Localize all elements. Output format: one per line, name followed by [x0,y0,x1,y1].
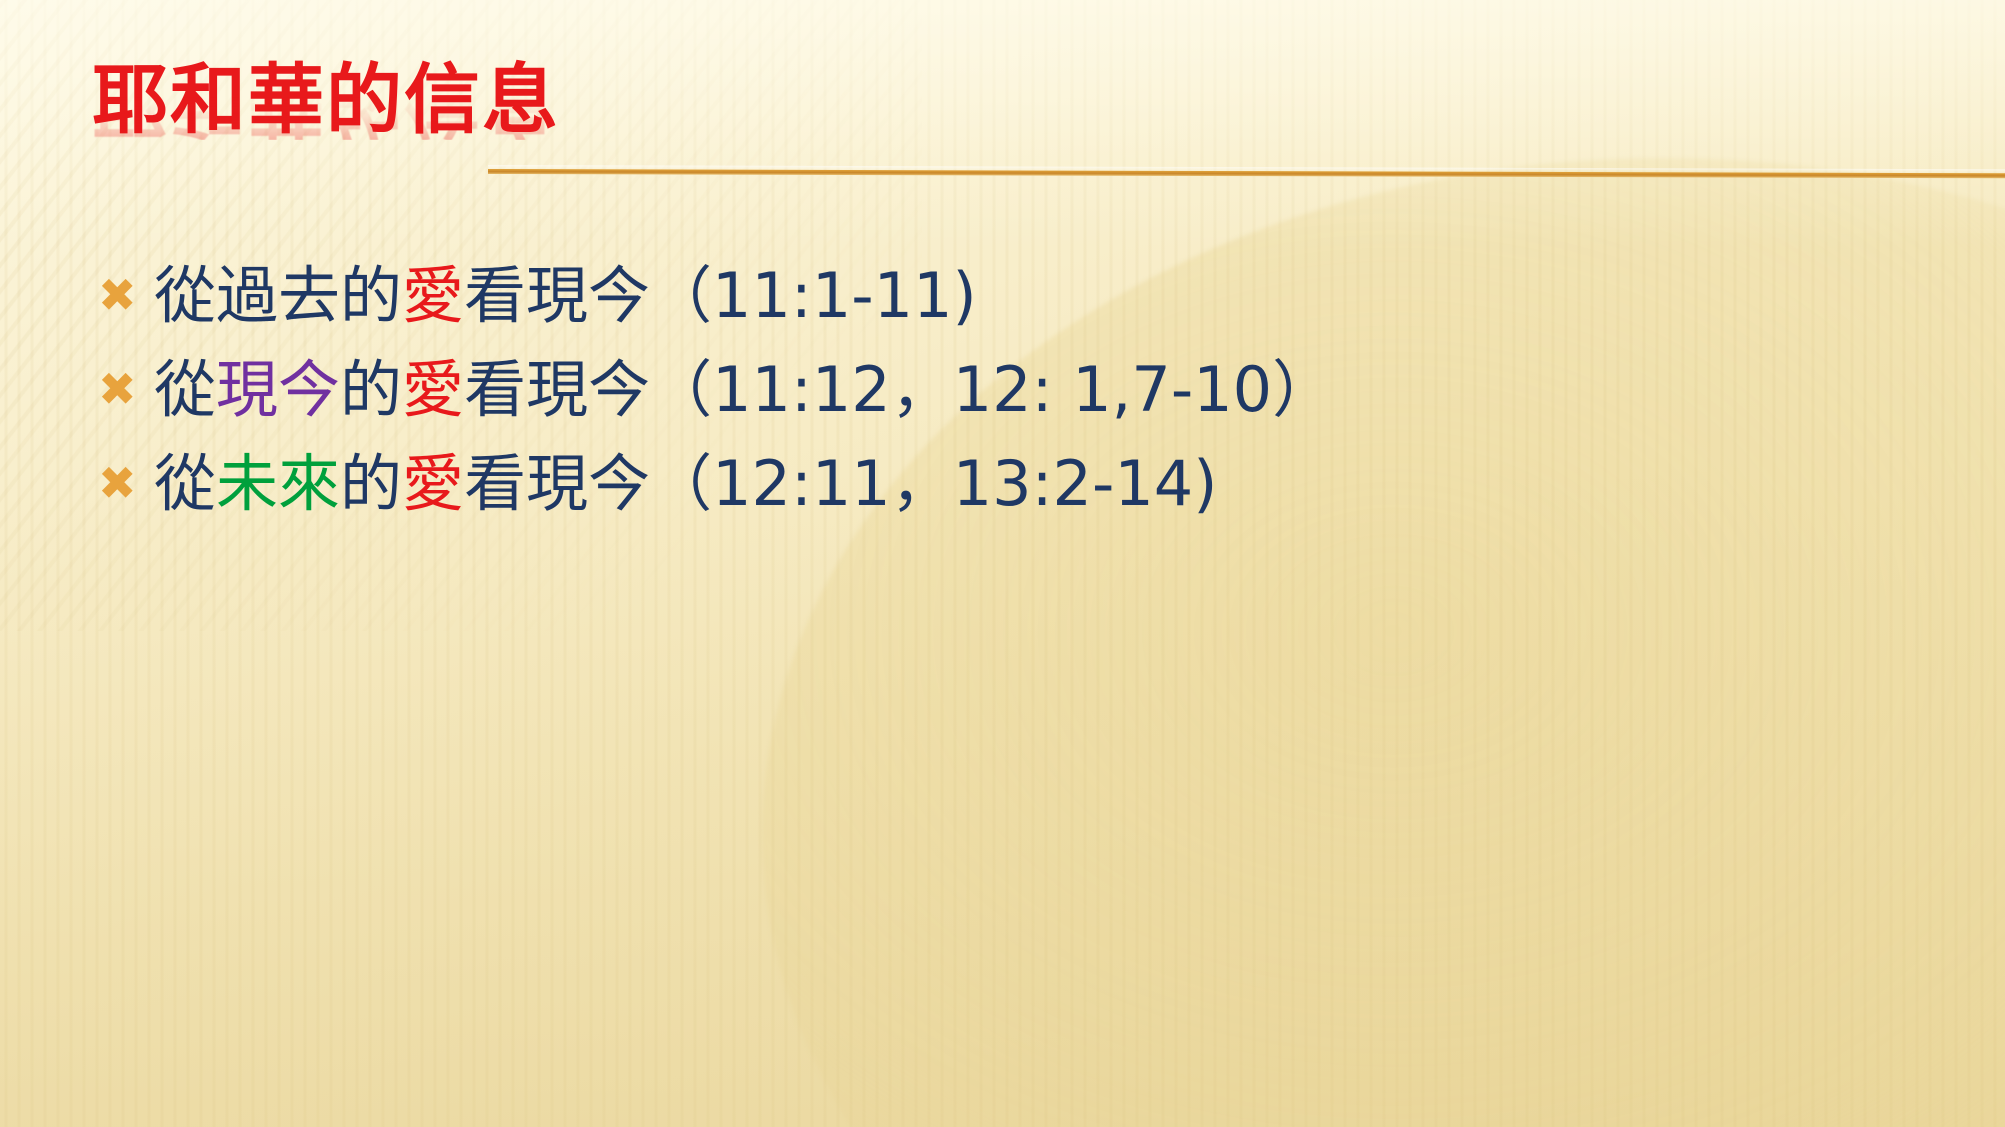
bullet-2-segment-4-love: 愛 [402,353,464,426]
slide-title-reflection: 耶和華的信息 [92,70,1892,140]
bullet-2-segment-2-present: 現今 [216,353,340,426]
slide-title-block: 耶和華的信息 耶和華的信息 [92,62,1892,222]
bullet-2-segment-5: 看現今（11:12，12: 1,7-10） [464,353,1334,426]
bullet-2-segment-1: 從 [154,353,216,426]
bullet-text-3: 從未來的愛看現今（12:11，13:2-14) [154,440,1912,528]
bullet-text-1: 從過去的愛看現今（11:1-11) [154,252,1912,340]
bullet-item-1: ✖ 從過去的愛看現今（11:1-11) [92,252,1912,346]
slide-body-bullet-list: ✖ 從過去的愛看現今（11:1-11) ✖ 從現今的愛看現今（11:12，12:… [92,252,1912,534]
bullet-marker-x-icon: ✖ [92,440,154,526]
bullet-marker-x-icon: ✖ [92,346,154,432]
bullet-3-segment-4-love: 愛 [402,447,464,520]
bullet-3-segment-2-future: 未來 [216,447,340,520]
bullet-2-segment-3: 的 [340,353,402,426]
bullet-text-2: 從現今的愛看現今（11:12，12: 1,7-10） [154,346,1912,434]
bullet-item-2: ✖ 從現今的愛看現今（11:12，12: 1,7-10） [92,346,1912,440]
background-bottom-shade [0,473,2005,1127]
bullet-3-segment-1: 從 [154,447,216,520]
bullet-1-segment-1: 從過去的 [154,259,402,332]
presentation-slide: 耶和華的信息 耶和華的信息 ✖ 從過去的愛看現今（11:1-11) ✖ 從現今的… [0,0,2005,1127]
bullet-1-segment-3: 看現今（11:1-11) [464,259,977,332]
bullet-3-segment-5: 看現今（12:11，13:2-14) [464,447,1217,520]
bullet-item-3: ✖ 從未來的愛看現今（12:11，13:2-14) [92,440,1912,534]
bullet-3-segment-3: 的 [340,447,402,520]
bullet-marker-x-icon: ✖ [92,252,154,338]
bullet-1-segment-2-love: 愛 [402,259,464,332]
